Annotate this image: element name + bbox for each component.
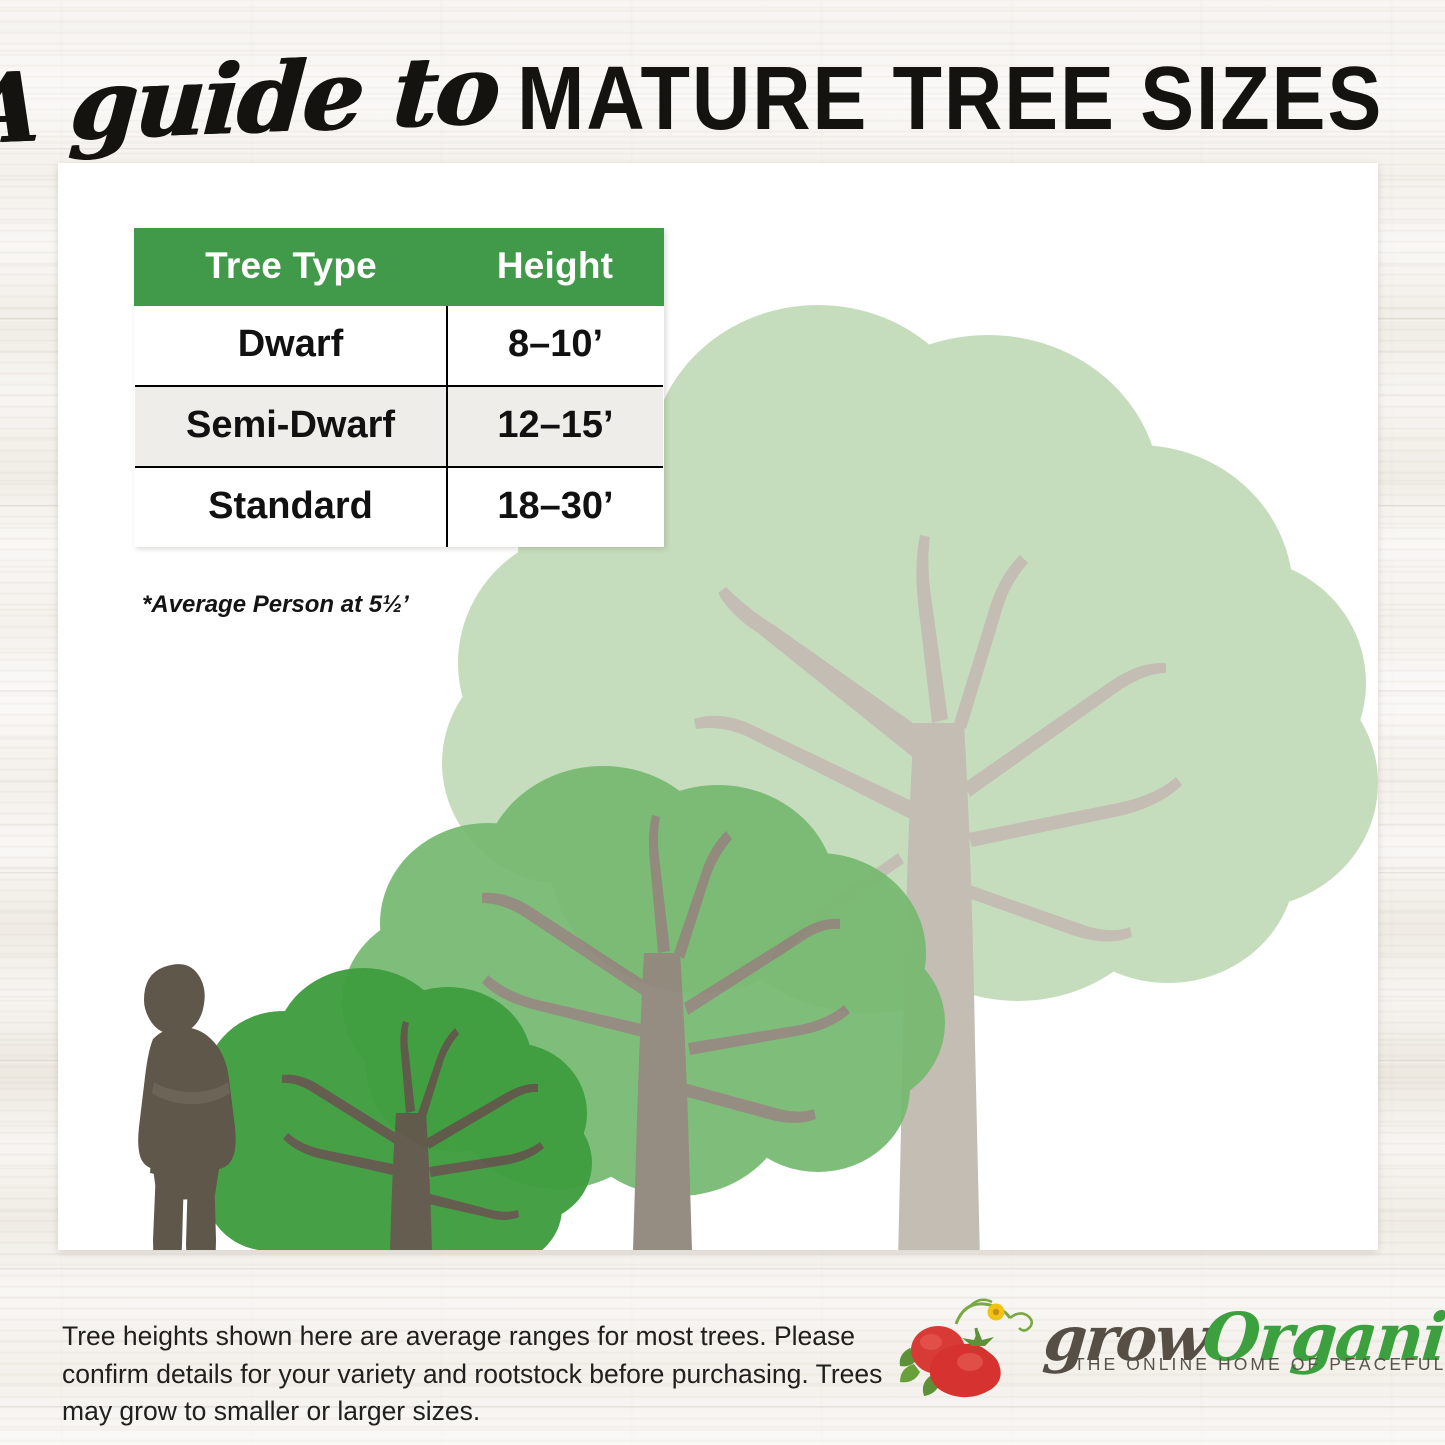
column-header-tree-type: Tree Type — [135, 229, 447, 305]
cell-height-standard: 18–30’ — [447, 467, 663, 547]
tree-size-table: Tree Type Height Dwarf 8–10’ Semi-Dwarf … — [134, 228, 664, 547]
table-row: Dwarf 8–10’ — [135, 305, 663, 386]
logo-tagline: THE ONLINE HOME OF PEACEFUL VALLEY — [1074, 1354, 1445, 1375]
cell-tree-type-semi-dwarf: Semi-Dwarf — [135, 386, 447, 467]
cell-tree-type-dwarf: Dwarf — [135, 305, 447, 386]
infographic-card: Tree Type Height Dwarf 8–10’ Semi-Dwarf … — [58, 163, 1378, 1250]
disclaimer-text: Tree heights shown here are average rang… — [62, 1318, 892, 1431]
grow-organic-logo[interactable]: growOrganic.COM THE ONLINE HOME OF PEACE… — [898, 1288, 1398, 1408]
table-row: Standard 18–30’ — [135, 467, 663, 547]
average-person-footnote: *Average Person at 5½’ — [142, 591, 409, 619]
cell-tree-type-standard: Standard — [135, 467, 447, 547]
column-header-height: Height — [447, 229, 663, 305]
tomato-illustration-icon — [898, 1290, 1048, 1400]
cell-height-semi-dwarf: 12–15’ — [447, 386, 663, 467]
cell-height-dwarf: 8–10’ — [447, 305, 663, 386]
table-header-row: Tree Type Height — [135, 229, 663, 305]
table-row: Semi-Dwarf 12–15’ — [135, 386, 663, 467]
